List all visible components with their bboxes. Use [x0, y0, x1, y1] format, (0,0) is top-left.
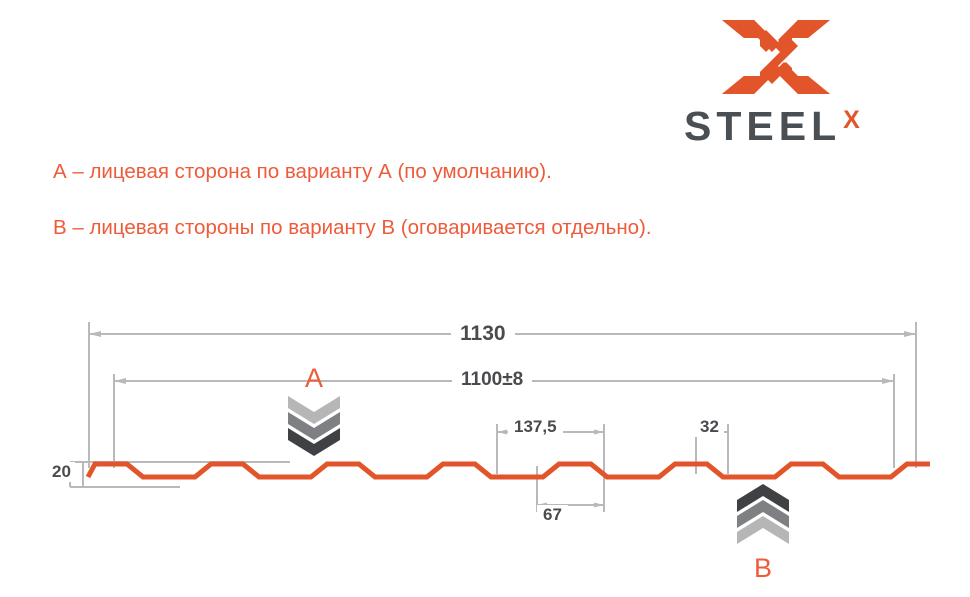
- dimension-label-valley-width: 67: [537, 505, 568, 525]
- profile-cross-section-drawing: [0, 0, 970, 597]
- variant-a-chevrons: [288, 396, 340, 456]
- dimension-arrow-ticks: [89, 331, 916, 508]
- dimension-label-working-width: 1100±8: [452, 369, 532, 391]
- drawing-page: STEEL X А – лицевая сторона по варианту …: [0, 0, 970, 597]
- variant-a-marker: A: [284, 363, 344, 393]
- dimension-label-wave-pitch: 137,5: [508, 417, 563, 437]
- variant-b-marker: B: [733, 487, 793, 583]
- sheet-profile-line: [88, 464, 930, 477]
- dimension-label-height: 20: [48, 462, 75, 482]
- dimension-label-crest-width: 32: [695, 417, 724, 437]
- variant-a-label: A: [284, 363, 344, 393]
- dimension-label-total-width: 1130: [451, 322, 515, 346]
- variant-b-label: B: [733, 553, 793, 583]
